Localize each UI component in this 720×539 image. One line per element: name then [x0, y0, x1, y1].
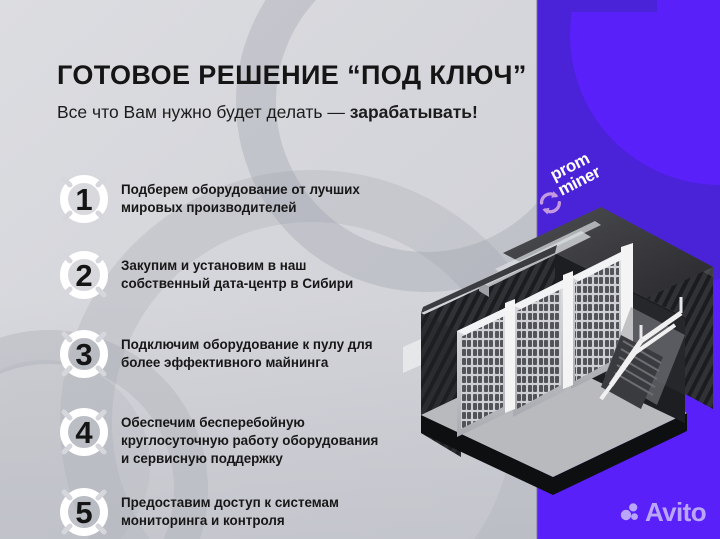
step-badge-2: 2: [57, 248, 111, 302]
list-item: 1 Подберем оборудование от лучших мировы…: [57, 172, 387, 226]
step-description: Подберем оборудование от лучших мировых …: [121, 172, 387, 217]
list-item: 4 Обеспечим бесперебойную круглосуточную…: [57, 405, 387, 467]
headline-block: ГОТОВОЕ РЕШЕНИЕ “ПОД КЛЮЧ” Все что Вам н…: [57, 60, 527, 123]
subtitle-strong-text: зарабатывать!: [350, 102, 478, 122]
step-description: Обеспечим бесперебойную круглосуточную р…: [121, 405, 387, 467]
list-item: 5 Предоставим доступ к системам монитори…: [57, 485, 387, 539]
step-number: 4: [57, 405, 111, 459]
step-number: 5: [57, 485, 111, 539]
promo-banner: ГОТОВОЕ РЕШЕНИЕ “ПОД КЛЮЧ” Все что Вам н…: [0, 0, 720, 539]
avito-dots-icon: [620, 502, 640, 522]
step-description: Закупим и установим в наш собственный да…: [121, 248, 387, 293]
step-number: 1: [57, 172, 111, 226]
step-badge-5: 5: [57, 485, 111, 539]
step-number: 2: [57, 248, 111, 302]
page-subtitle: Все что Вам нужно будет делать — зарабат…: [57, 102, 527, 123]
decorative-purple-block: [567, 0, 657, 12]
avito-brand-text: Avito: [645, 499, 706, 525]
avito-watermark: Avito: [620, 499, 706, 525]
list-item: 2 Закупим и установим в наш собственный …: [57, 248, 387, 302]
steps-list: 1 Подберем оборудование от лучших мировы…: [57, 172, 387, 539]
step-badge-4: 4: [57, 405, 111, 459]
list-item: 3 Подключим оборудование к пулу для боле…: [57, 327, 387, 381]
step-badge-3: 3: [57, 327, 111, 381]
subtitle-plain-text: Все что Вам нужно будет делать —: [57, 102, 350, 122]
step-description: Подключим оборудование к пулу для более …: [121, 327, 387, 372]
page-title: ГОТОВОЕ РЕШЕНИЕ “ПОД КЛЮЧ”: [57, 60, 527, 90]
step-description: Предоставим доступ к системам мониторинг…: [121, 485, 387, 530]
step-number: 3: [57, 327, 111, 381]
step-badge-1: 1: [57, 172, 111, 226]
